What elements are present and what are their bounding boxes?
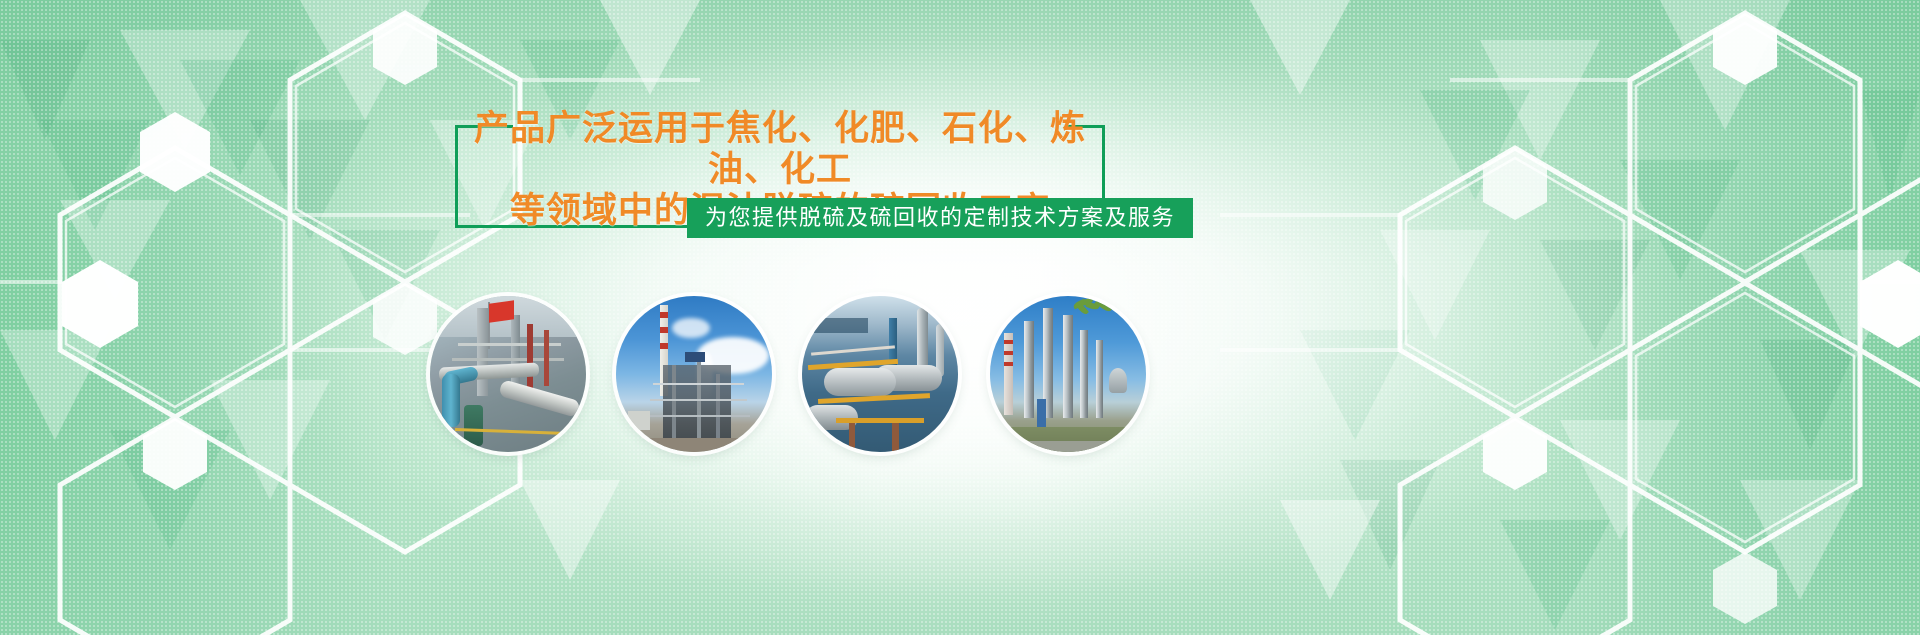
subtitle-bar: 为您提供脱硫及硫回收的定制技术方案及服务 xyxy=(687,198,1193,238)
photo-tank-platform-image xyxy=(802,296,958,452)
photo-refinery-columns[interactable] xyxy=(990,296,1146,452)
hero-banner: 产品广泛运用于焦化、化肥、石化、炼油、化工 等领域中的湿法脱硫的硫回收工序 为您… xyxy=(0,0,1920,635)
photo-stack-plant-image xyxy=(616,296,772,452)
photo-refinery-columns-image xyxy=(990,296,1146,452)
photo-piping-plant[interactable] xyxy=(430,296,586,452)
headline-line-1: 产品广泛运用于焦化、化肥、石化、炼油、化工 xyxy=(455,108,1105,190)
tree-leaves-overlay xyxy=(1071,299,1124,321)
photo-piping-plant-image xyxy=(430,296,586,452)
photo-gallery xyxy=(0,296,1920,456)
photo-tank-platform[interactable] xyxy=(802,296,958,452)
banner-content: 产品广泛运用于焦化、化肥、石化、炼油、化工 等领域中的湿法脱硫的硫回收工序 为您… xyxy=(0,0,1920,635)
photo-stack-plant[interactable] xyxy=(616,296,772,452)
